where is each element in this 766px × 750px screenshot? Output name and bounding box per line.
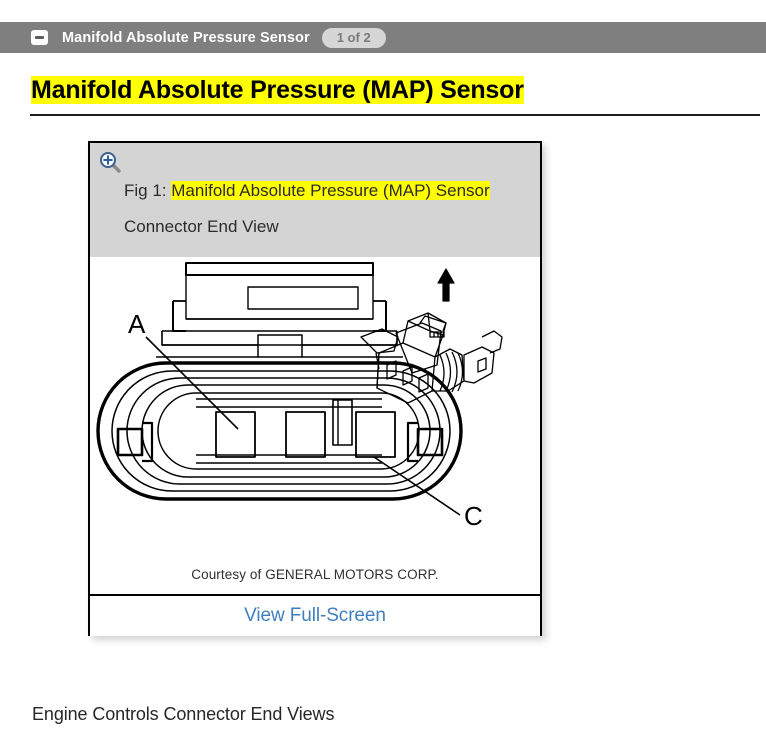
page-title-container: Manifold Absolute Pressure (MAP) Sensor xyxy=(31,73,731,107)
terminal-b xyxy=(286,412,325,457)
connector-drawing-svg: A C xyxy=(90,257,540,555)
title-divider xyxy=(30,114,760,116)
leader-line-a xyxy=(146,337,238,429)
courtesy-text: Courtesy of GENERAL MOTORS CORP. xyxy=(191,567,439,582)
minus-glyph xyxy=(35,36,44,39)
up-arrow-icon xyxy=(438,269,454,301)
section-header-bar[interactable]: Manifold Absolute Pressure Sensor 1 of 2 xyxy=(0,22,766,53)
terminal-c xyxy=(356,412,395,457)
bottom-caption: Engine Controls Connector End Views xyxy=(32,704,334,725)
figure-caption-highlighted: Manifold Absolute Pressure (MAP) Sensor xyxy=(171,181,489,200)
terminal-label-c: C xyxy=(464,501,483,531)
fullscreen-row[interactable]: View Full-Screen xyxy=(90,596,540,636)
page-count-badge: 1 of 2 xyxy=(322,28,386,48)
terminal-a xyxy=(216,412,255,457)
figure-caption: Fig 1: Manifold Absolute Pressure (MAP) … xyxy=(124,173,518,245)
courtesy-row: Courtesy of GENERAL MOTORS CORP. xyxy=(90,555,540,596)
terminal-label-a: A xyxy=(128,309,146,339)
view-full-screen-link[interactable]: View Full-Screen xyxy=(244,605,386,627)
connector-3d-inset xyxy=(361,313,502,403)
minus-box-icon[interactable] xyxy=(31,30,48,45)
figure-caption-prefix: Fig 1: xyxy=(124,181,171,200)
connector-end-view-diagram: A C xyxy=(90,257,540,555)
figure-caption-area: Fig 1: Manifold Absolute Pressure (MAP) … xyxy=(90,143,540,257)
figure-panel: Fig 1: Manifold Absolute Pressure (MAP) … xyxy=(88,141,542,636)
leader-line-c xyxy=(374,457,460,515)
section-header-title: Manifold Absolute Pressure Sensor xyxy=(62,30,310,46)
figure-caption-suffix: Connector End View xyxy=(124,217,279,236)
page-title: Manifold Absolute Pressure (MAP) Sensor xyxy=(31,76,524,104)
zoom-in-magnifier-icon[interactable] xyxy=(99,151,121,173)
